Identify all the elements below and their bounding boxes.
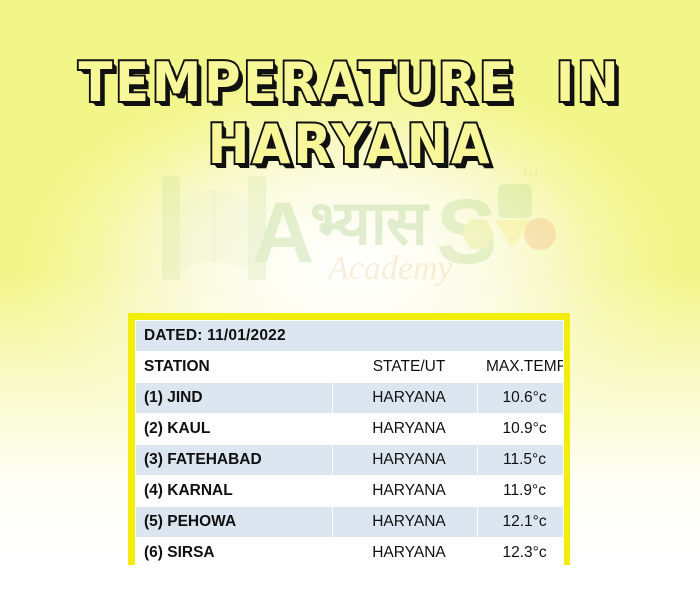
cell-state: HARYANA — [333, 445, 478, 476]
orange-circle-shape — [524, 218, 556, 250]
column-header-station: STATION — [136, 352, 333, 383]
temperature-table: DATED: 11/01/2022 STATION STATE/UT MAX.T… — [135, 320, 564, 569]
table-row-dated: DATED: 11/01/2022 — [136, 321, 564, 352]
column-header-maxtemp: MAX.TEMP — [478, 352, 564, 383]
cell-state: HARYANA — [333, 538, 478, 569]
watermark-script-text: Academy — [328, 252, 453, 286]
watermark-hindi-text: भ्यास — [310, 192, 427, 254]
table-row: (5) PEHOWA HARYANA 12.1°c — [136, 507, 564, 538]
cell-temp: 12.1°c — [478, 507, 564, 538]
cell-state: HARYANA — [333, 414, 478, 445]
watermark-letter-a: A — [252, 190, 314, 276]
cell-state: HARYANA — [333, 383, 478, 414]
cell-temp: 11.9°c — [478, 476, 564, 507]
dated-label: DATED: 11/01/2022 — [136, 321, 564, 352]
title-line-1: TEMPERATURE IN — [28, 52, 672, 114]
green-square-shape — [498, 184, 532, 218]
table-row: (6) SIRSA HARYANA 12.3°c — [136, 538, 564, 569]
cell-station: (1) JIND — [136, 383, 333, 414]
open-book-icon — [160, 172, 272, 290]
table-row: (2) KAUL HARYANA 10.9°c — [136, 414, 564, 445]
cell-station: (6) SIRSA — [136, 538, 333, 569]
cell-temp: 12.3°c — [478, 538, 564, 569]
table-row: (4) KARNAL HARYANA 11.9°c — [136, 476, 564, 507]
cell-station: (3) FATEHABAD — [136, 445, 333, 476]
table-row: (3) FATEHABAD HARYANA 11.5°c — [136, 445, 564, 476]
cell-temp: 10.9°c — [478, 414, 564, 445]
title-line-2: HARYANA — [28, 114, 672, 176]
cell-station: (2) KAUL — [136, 414, 333, 445]
cell-station: (4) KARNAL — [136, 476, 333, 507]
cell-state: HARYANA — [333, 507, 478, 538]
cell-temp: 10.6°c — [478, 383, 564, 414]
column-header-state: STATE/UT — [333, 352, 478, 383]
table-body: DATED: 11/01/2022 STATION STATE/UT MAX.T… — [136, 321, 564, 569]
table-row: (1) JIND HARYANA 10.6°c — [136, 383, 564, 414]
yellow-triangle-shape — [494, 220, 530, 248]
watermark-letter-s: S — [436, 186, 497, 278]
abhyas-academy-watermark: A भ्यास S Academy TM — [160, 168, 560, 298]
green-hexagon-shape — [462, 218, 494, 250]
cell-station: (5) PEHOWA — [136, 507, 333, 538]
temperature-table-frame: DATED: 11/01/2022 STATION STATE/UT MAX.T… — [128, 313, 570, 565]
cell-state: HARYANA — [333, 476, 478, 507]
page-title: TEMPERATURE IN HARYANA — [0, 52, 700, 176]
table-header-row: STATION STATE/UT MAX.TEMP — [136, 352, 564, 383]
poster-canvas: A भ्यास S Academy TM TEMPERATURE IN HARY… — [0, 0, 700, 600]
cell-temp: 11.5°c — [478, 445, 564, 476]
